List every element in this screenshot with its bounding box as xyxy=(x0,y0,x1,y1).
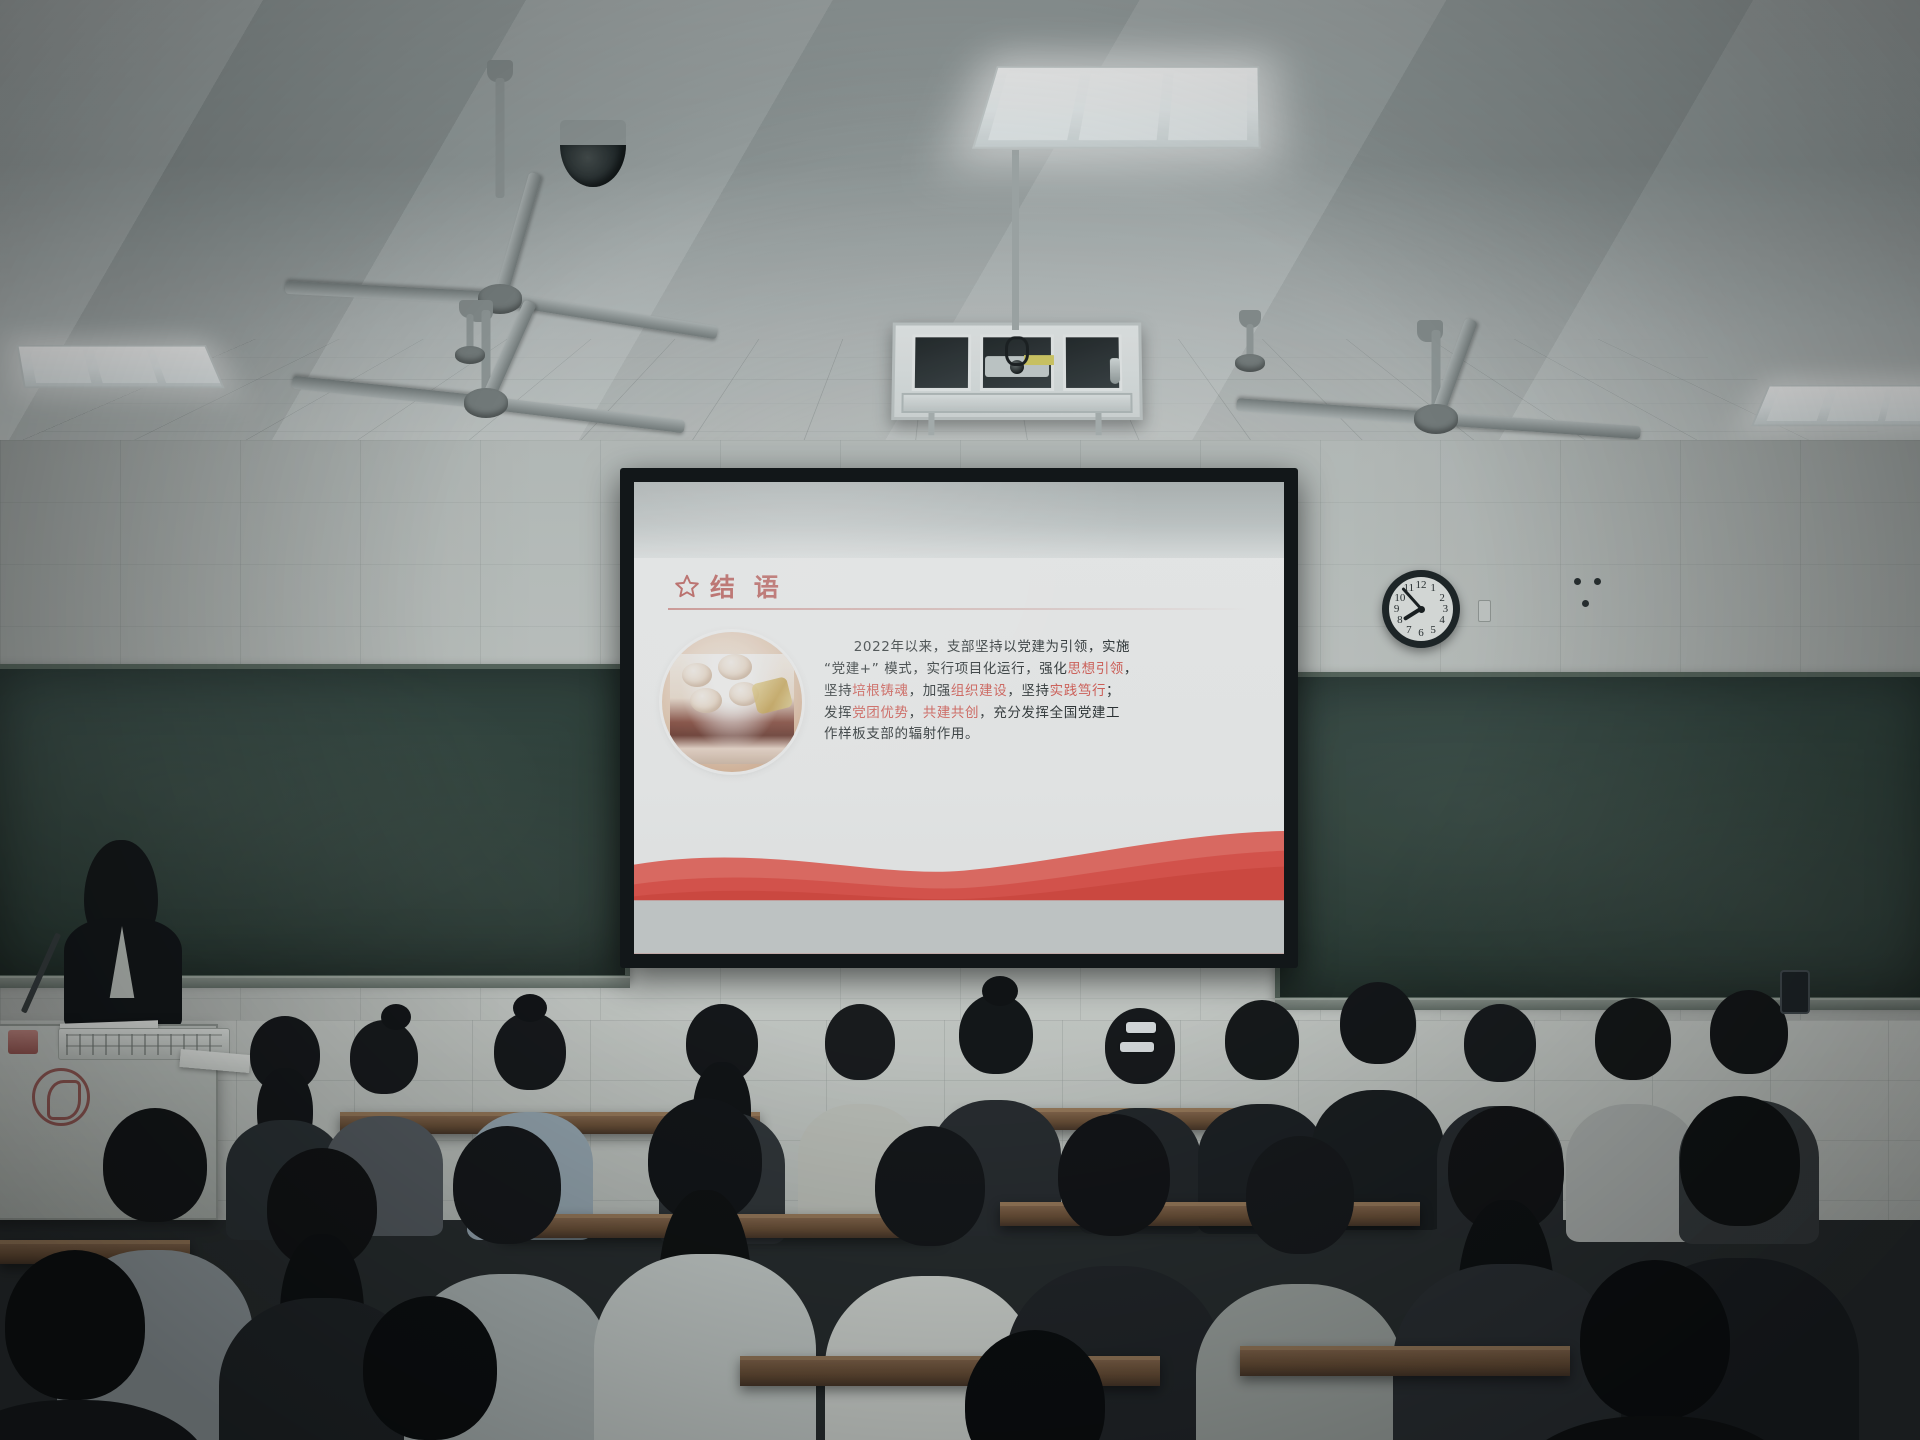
slide-highlight-phrase: 培根铸魂 xyxy=(852,683,908,699)
slide-highlight-phrase: 思想引领 xyxy=(1068,661,1124,677)
fan-blade xyxy=(1436,412,1641,439)
student xyxy=(930,1330,1140,1440)
slide-wave-decoration xyxy=(634,831,1284,954)
presentation-slide: 结 语 2022年以来，支部坚持以党建为引领，实施“党建+” 模式，实行项目化运… xyxy=(634,482,1284,954)
slide-body-text: 2022年以来，支部坚持以党建为引领，实施“党建+” 模式，实行项目化运行，强化… xyxy=(824,637,1254,746)
student xyxy=(620,1098,790,1388)
slide-top-band xyxy=(634,482,1284,558)
projector-cable xyxy=(1005,336,1029,366)
slide-title-group: 结 语 xyxy=(674,568,784,604)
slide-text-run: 作样板支部的辐射作用。 xyxy=(824,726,979,742)
slide-highlight-phrase: 组织建设 xyxy=(951,683,1007,699)
projector-suspension-pole xyxy=(1012,150,1019,330)
wall-switch-box[interactable] xyxy=(1478,600,1491,622)
wall-anchor-dot xyxy=(1574,578,1581,585)
ceiling-light-panel-center xyxy=(972,66,1261,148)
slide-highlight-phrase: 党团优势 xyxy=(852,705,908,721)
ceiling-fan-left xyxy=(300,60,700,320)
cake-photo-circle xyxy=(662,632,802,772)
ceiling-light-panel-right xyxy=(1751,385,1920,426)
slide-body-line-2: “党建+” 模式，实行项目化运行，强化思想引领， xyxy=(824,659,1254,681)
slide-body-line-1: 2022年以来，支部坚持以党建为引领，实施 xyxy=(824,637,1254,659)
fan-blade xyxy=(1236,398,1436,425)
slide-highlight-phrase: 共建共创 xyxy=(923,705,979,721)
dome-security-camera xyxy=(560,120,626,182)
slide-text-run: “党建+” 模式，实行项目化运行，强化 xyxy=(824,661,1068,677)
slide-text-run: 发挥 xyxy=(824,705,852,721)
hair-clip xyxy=(1120,1042,1154,1052)
podium-red-box xyxy=(8,1030,38,1054)
ceiling-pendant-right xyxy=(1220,310,1280,380)
slide-body-line-4: 发挥党团优势，共建共创，充分发挥全国党建工 xyxy=(824,703,1254,725)
fan-blade xyxy=(485,396,685,433)
presenter xyxy=(48,840,198,1020)
projection-screen[interactable]: 结 语 2022年以来，支部坚持以党建为引领，实施“党建+” 模式，实行项目化运… xyxy=(634,482,1284,954)
wall-anchor-dot xyxy=(1594,578,1601,585)
slide-title-underline xyxy=(668,608,1248,610)
hair-clip xyxy=(1126,1022,1156,1033)
slide-body-line-3: 坚持培根铸魂，加强组织建设，坚持实践笃行； xyxy=(824,681,1254,703)
slide-text-run: ， xyxy=(1124,661,1138,677)
slide-title: 结 语 xyxy=(710,568,784,604)
ceiling-light-panel-left xyxy=(16,345,224,388)
star-outline-icon xyxy=(674,573,700,599)
student xyxy=(236,1016,334,1166)
slide-text-run: 坚持 xyxy=(824,683,852,699)
projector-housing xyxy=(891,323,1143,420)
slide-text-run: ； xyxy=(1106,683,1120,699)
desk-row-front xyxy=(1240,1346,1570,1376)
slide-text-run: 2022年以来，支部坚持以党建为引领，实施 xyxy=(854,639,1130,655)
student xyxy=(0,1250,180,1440)
water-bottle xyxy=(1110,358,1120,384)
fan-blade xyxy=(291,376,486,409)
slide-text-run: ， xyxy=(909,705,923,721)
slide-highlight-phrase: 实践笃行 xyxy=(1050,683,1106,699)
projector-mount-rod xyxy=(1096,413,1102,435)
wall-anchor-dot xyxy=(1582,600,1589,607)
classroom-scene: 12 1 2 3 4 5 6 7 8 9 10 11 xyxy=(0,0,1920,1440)
slide-text-run: ，加强 xyxy=(909,683,951,699)
slide-body-line-5: 作样板支部的辐射作用。 xyxy=(824,724,1254,746)
student xyxy=(330,1296,530,1440)
student xyxy=(1540,1260,1770,1440)
ceiling-pendant-left xyxy=(440,300,500,370)
slide-text-run: ，充分发挥全国党建工 xyxy=(979,705,1120,721)
blackboard-right xyxy=(1275,672,1920,1002)
projector-tray xyxy=(902,393,1133,413)
projector-mount-rod xyxy=(928,413,934,435)
slide-text-run: ，坚持 xyxy=(1007,683,1049,699)
smartphone[interactable] xyxy=(1780,970,1810,1014)
wall-clock: 12 1 2 3 4 5 6 7 8 9 10 11 xyxy=(1382,570,1460,648)
